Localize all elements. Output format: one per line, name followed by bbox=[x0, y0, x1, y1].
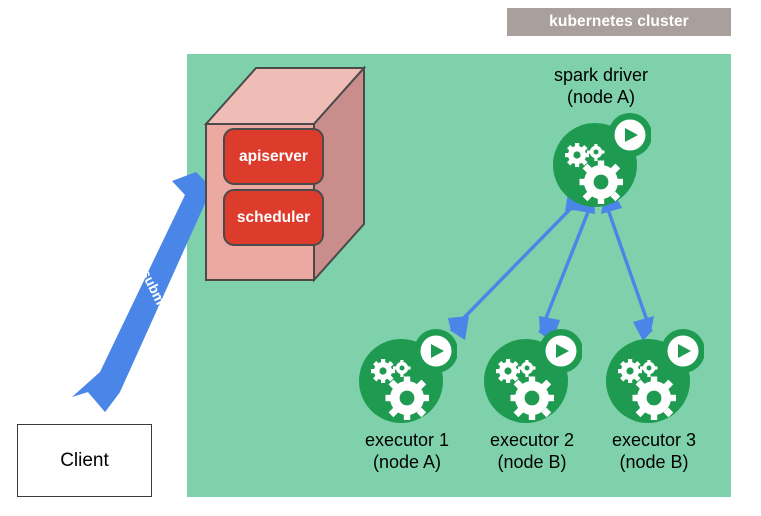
gears-play-node-icon bbox=[551, 111, 651, 211]
spark-driver-node bbox=[551, 111, 651, 211]
gears-play-node-icon bbox=[604, 327, 704, 427]
executor-3-label-title: executor 3 bbox=[579, 430, 729, 452]
spark-driver-label-subtitle: (node A) bbox=[521, 87, 681, 109]
spark-driver-label-title: spark driver bbox=[521, 65, 681, 87]
executor-3-node bbox=[604, 327, 704, 427]
scheduler-chip: scheduler bbox=[223, 189, 324, 246]
gears-play-node-icon bbox=[482, 327, 582, 427]
executor-2-node bbox=[482, 327, 582, 427]
kubernetes-cluster-banner: kubernetes cluster bbox=[507, 8, 731, 36]
executor-3-label-subtitle: (node B) bbox=[579, 452, 729, 474]
client-box-label: Client bbox=[60, 450, 109, 472]
apiserver-chip: apiserver bbox=[223, 128, 324, 185]
spark-driver-label: spark driver (node A) bbox=[521, 65, 681, 109]
spark-submit-label: spark-submit bbox=[109, 213, 182, 330]
kubernetes-cluster-banner-label: kubernetes cluster bbox=[549, 13, 689, 31]
executor-3-label: executor 3 (node B) bbox=[579, 430, 729, 474]
scheduler-chip-label: scheduler bbox=[237, 209, 310, 227]
diagram-canvas: kubernetes cluster bbox=[0, 0, 761, 516]
client-box: Client bbox=[17, 424, 152, 497]
apiserver-chip-label: apiserver bbox=[239, 148, 308, 166]
executor-1-node bbox=[357, 327, 457, 427]
gears-play-node-icon bbox=[357, 327, 457, 427]
kubernetes-control-plane-box: apiserver scheduler bbox=[200, 58, 370, 283]
spark-submit-label-text: spark-submit bbox=[119, 229, 173, 315]
